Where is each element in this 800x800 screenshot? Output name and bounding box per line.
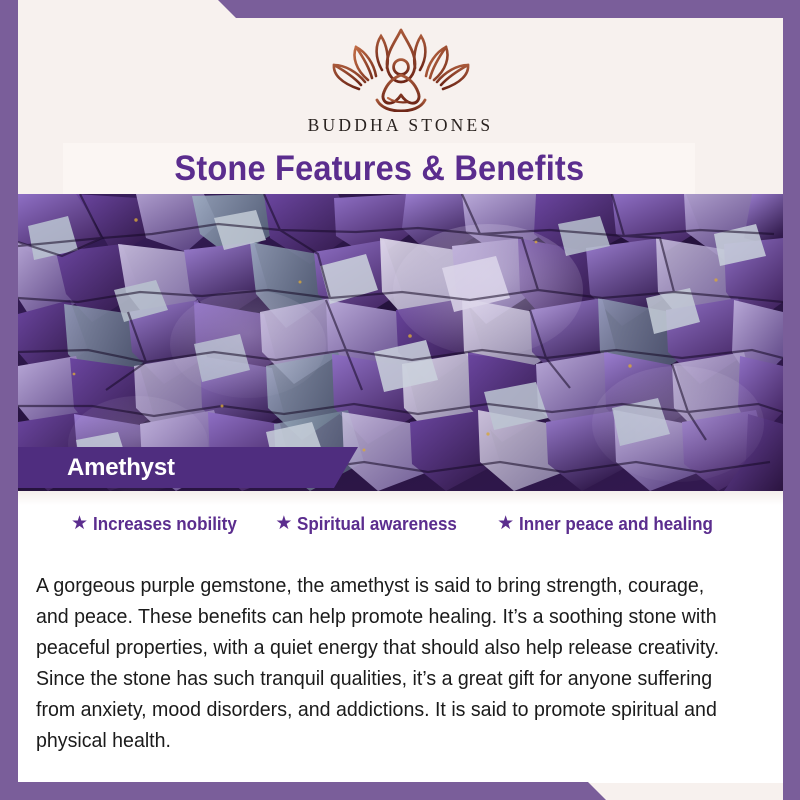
star-icon: ★ — [497, 514, 514, 533]
panel-top-fade — [18, 491, 783, 505]
feature-list: ★ Increases nobility ★ Spiritual awarene… — [34, 513, 767, 535]
frame-left-bar — [0, 0, 18, 800]
frame-top-bar — [218, 0, 800, 18]
frame-bottom-bar — [0, 782, 606, 800]
stone-name: Amethyst — [67, 447, 175, 488]
brand-name: BUDDHA STONES — [308, 115, 494, 136]
feature-label: Inner peace and healing — [519, 513, 713, 535]
feature-label: Increases nobility — [93, 513, 237, 535]
content-panel: ★ Increases nobility ★ Spiritual awarene… — [18, 491, 783, 783]
star-icon: ★ — [275, 514, 292, 533]
feature-item-2: ★ Spiritual awareness — [275, 513, 471, 535]
card-page: BUDDHA STONES Stone Features & Benefits — [18, 18, 783, 783]
headline-band: Stone Features & Benefits — [63, 143, 695, 194]
feature-item-1: ★ Increases nobility — [71, 513, 249, 535]
description-paragraph: A gorgeous purple gemstone, the amethyst… — [36, 570, 732, 756]
feature-label: Spiritual awareness — [297, 513, 457, 535]
stone-name-ribbon: Amethyst — [18, 447, 358, 488]
lotus-meditation-figure-icon — [325, 26, 477, 112]
frame-right-bar — [783, 0, 800, 800]
star-icon: ★ — [71, 514, 88, 533]
page-title: Stone Features & Benefits — [174, 151, 584, 186]
product-feature-card: BUDDHA STONES Stone Features & Benefits — [0, 0, 800, 800]
feature-item-3: ★ Inner peace and healing — [497, 513, 730, 535]
